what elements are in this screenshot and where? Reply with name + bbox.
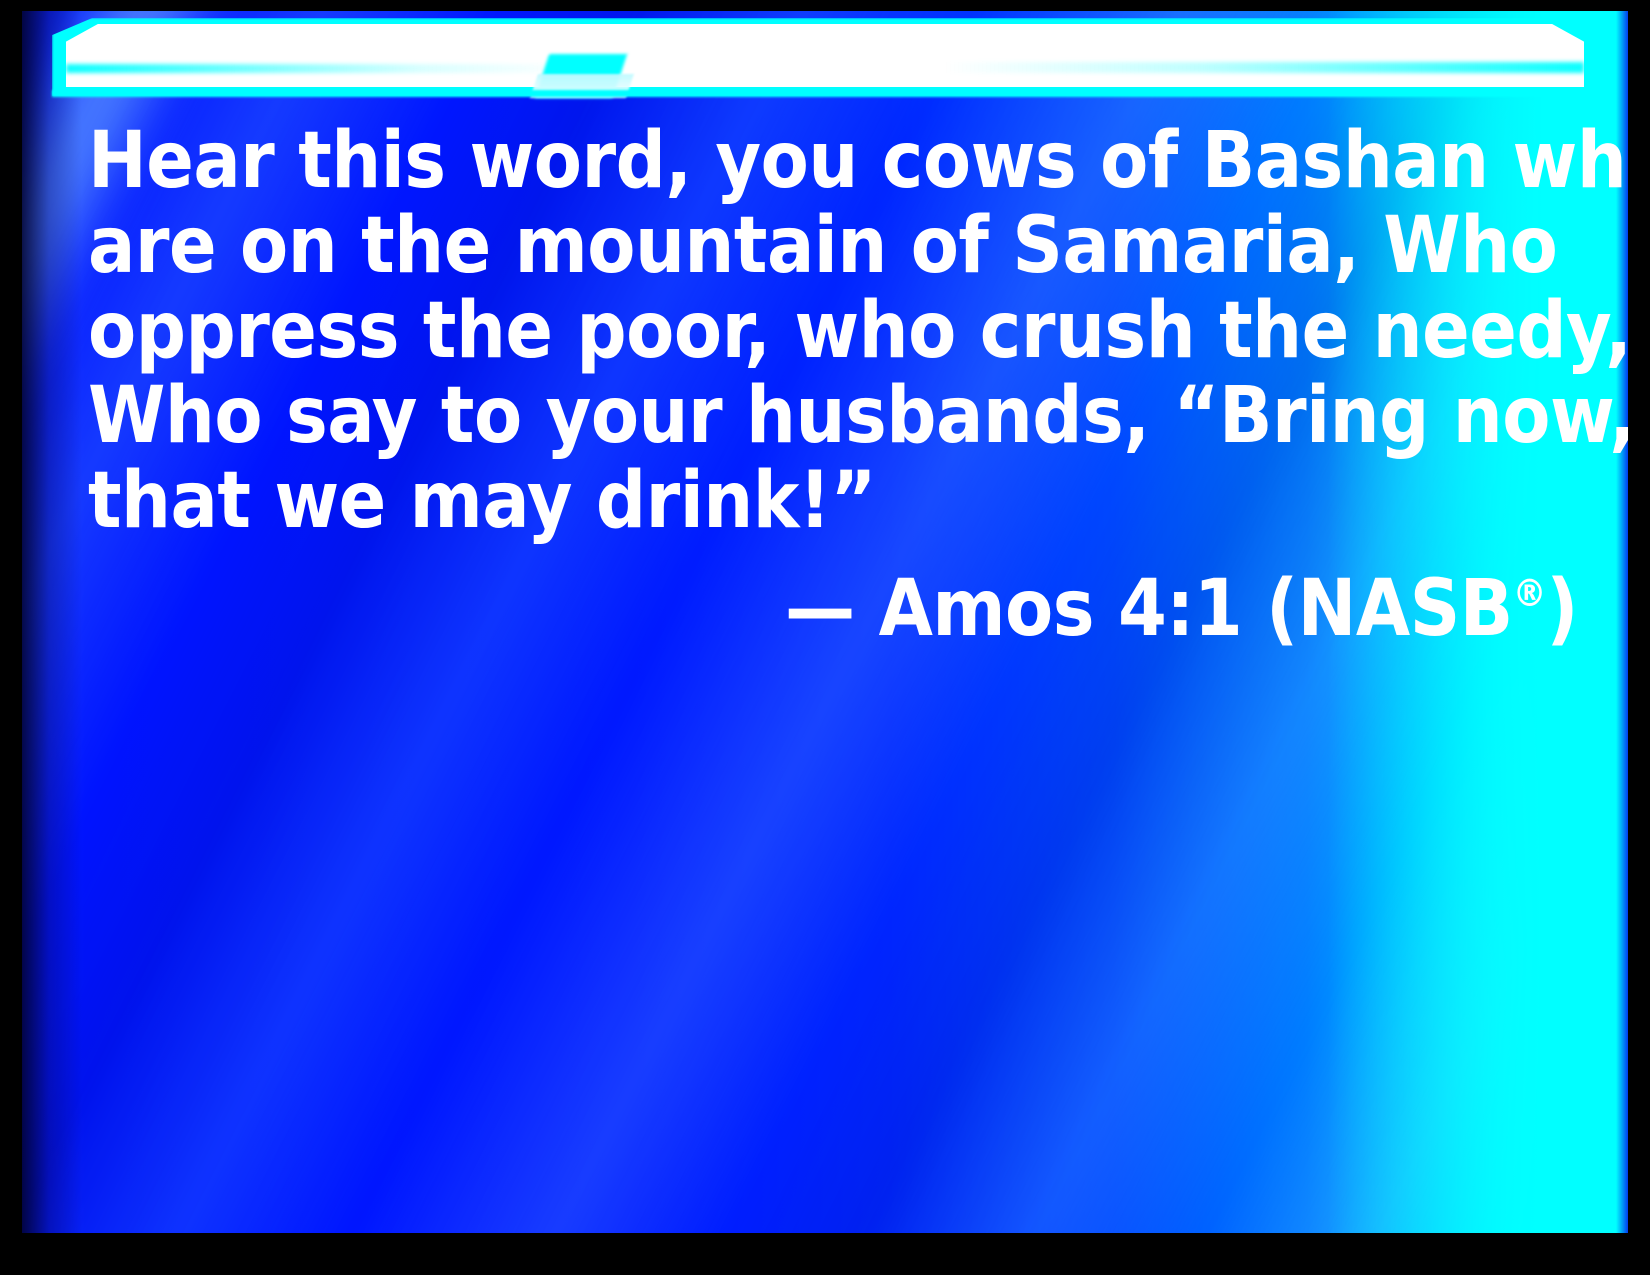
verse-slide: Hear this word, you cows of Bashan who a… bbox=[0, 0, 1650, 1275]
verse-attribution: — Amos 4:1 (NASB®) bbox=[88, 551, 1578, 652]
attribution-prefix: — Amos 4:1 (NASB bbox=[785, 564, 1513, 654]
artwork-panel: Hear this word, you cows of Bashan who a… bbox=[22, 11, 1628, 1233]
verse-line-3: oppress the poor, who crush the needy, bbox=[88, 289, 1588, 374]
verse-line-5: that we may drink!” bbox=[88, 459, 1588, 544]
verse-line-4: Who say to your husbands, “Bring now, bbox=[88, 374, 1588, 459]
attribution-suffix: ) bbox=[1546, 564, 1578, 654]
verse-line-1: Hear this word, you cows of Bashan who bbox=[88, 119, 1588, 204]
verse-text-block: Hear this word, you cows of Bashan who a… bbox=[88, 119, 1588, 544]
verse-line-2: are on the mountain of Samaria, Who bbox=[88, 204, 1588, 289]
registered-trademark-icon: ® bbox=[1513, 571, 1547, 615]
